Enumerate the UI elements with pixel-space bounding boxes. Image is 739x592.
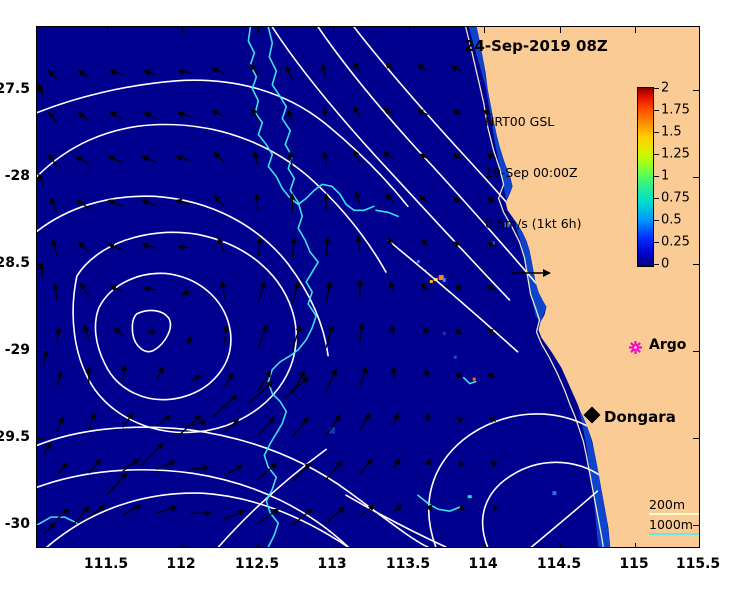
depth-key-1000m-line <box>649 533 700 535</box>
x-tick-inner <box>258 27 259 33</box>
x-tick <box>699 543 700 548</box>
y-axis-label-28-5: -28.5 <box>0 255 30 271</box>
current-vector-field <box>37 27 699 547</box>
x-tick-inner <box>107 27 108 33</box>
x-tick-inner <box>635 27 636 33</box>
argo-marker-icon[interactable] <box>629 341 642 354</box>
current-legend-line3: 0.5m/s (1kt 6h) <box>485 215 581 232</box>
y-axis-label-28: -28 <box>5 168 30 184</box>
y-axis-label-30: -30 <box>5 516 30 532</box>
y-tick-right <box>693 525 699 526</box>
x-axis-label-112-5: 112.5 <box>235 556 279 572</box>
dongara-label: Dongara <box>604 408 676 426</box>
x-tick <box>484 543 485 548</box>
x-tick-inner <box>333 27 334 33</box>
y-tick-right <box>693 351 699 352</box>
depth-key-200m-line <box>649 513 700 515</box>
x-tick <box>182 543 183 548</box>
plot-title-date: 24-Sep-2019 08Z <box>464 37 608 55</box>
x-axis-label-115: 115 <box>619 556 648 572</box>
x-tick <box>258 543 259 548</box>
map-plot-area[interactable]: 24-Sep-2019 08Z NRT00 GSL 19-Sep 00:00Z … <box>36 26 700 548</box>
y-tick <box>37 438 43 439</box>
colorbar-label-1: 1 <box>661 169 669 184</box>
colorbar-label-0-5: 0.5 <box>661 213 682 228</box>
x-tick-inner <box>182 27 183 33</box>
current-legend-line1: NRT00 GSL <box>485 113 581 130</box>
y-tick-right <box>693 90 699 91</box>
x-axis-label-114: 114 <box>468 556 497 572</box>
argo-label: Argo <box>649 337 686 353</box>
x-tick-inner <box>560 27 561 33</box>
depth-key-200m-label: 200m <box>649 497 700 513</box>
colorbar-label-0: 0 <box>661 257 669 272</box>
x-tick <box>409 543 410 548</box>
x-axis-label-113-5: 113.5 <box>386 556 430 572</box>
colorbar-label-0-25: 0.25 <box>661 235 690 250</box>
current-vector-legend: NRT00 GSL 19-Sep 00:00Z 0.5m/s (1kt 6h) <box>485 79 581 313</box>
colorbar-gradient <box>637 87 654 267</box>
x-tick <box>635 543 636 548</box>
y-tick-right <box>693 264 699 265</box>
y-axis-label-27-5: -27.5 <box>0 81 30 97</box>
x-tick <box>560 543 561 548</box>
current-legend-line2: 19-Sep 00:00Z <box>485 164 581 181</box>
colorbar-tick <box>654 242 659 243</box>
colorbar-tick <box>654 176 659 177</box>
x-tick <box>107 543 108 548</box>
y-tick-right <box>693 438 699 439</box>
y-tick-right <box>693 177 699 178</box>
y-tick <box>37 177 43 178</box>
y-tick <box>37 351 43 352</box>
x-axis-label-115-5: 115.5 <box>676 556 720 572</box>
y-tick <box>37 264 43 265</box>
y-tick <box>37 90 43 91</box>
figure-canvas: 24-Sep-2019 08Z NRT00 GSL 19-Sep 00:00Z … <box>0 0 739 592</box>
colorbar-tick <box>654 88 659 89</box>
colorbar-label-2: 2 <box>661 81 669 96</box>
colorbar-label-1-75: 1.75 <box>661 103 690 118</box>
x-tick-inner <box>699 27 700 33</box>
x-axis-label-114-5: 114.5 <box>537 556 581 572</box>
colorbar-tick <box>654 264 659 265</box>
y-axis-label-29: -29 <box>5 342 30 358</box>
x-tick-inner <box>484 27 485 33</box>
x-tick-inner <box>409 27 410 33</box>
x-axis-label-112: 112 <box>166 556 195 572</box>
colorbar-label-0-75: 0.75 <box>661 191 690 206</box>
reference-arrow-icon <box>509 267 553 279</box>
x-axis-label-111-5: 111.5 <box>84 556 128 572</box>
y-tick <box>37 525 43 526</box>
colorbar-tick <box>654 110 659 111</box>
colorbar-tick <box>654 220 659 221</box>
colorbar-tick <box>654 198 659 199</box>
colorbar-label-1-5: 1.5 <box>661 125 682 140</box>
x-tick <box>333 543 334 548</box>
x-axis-label-113: 113 <box>317 556 346 572</box>
colorbar-tick <box>654 154 659 155</box>
colorbar-tick <box>654 132 659 133</box>
depth-contour-key: 200m 1000m <box>649 497 700 537</box>
y-axis-label-29-5: -29.5 <box>0 429 30 445</box>
colorbar-label-1-25: 1.25 <box>661 147 690 162</box>
